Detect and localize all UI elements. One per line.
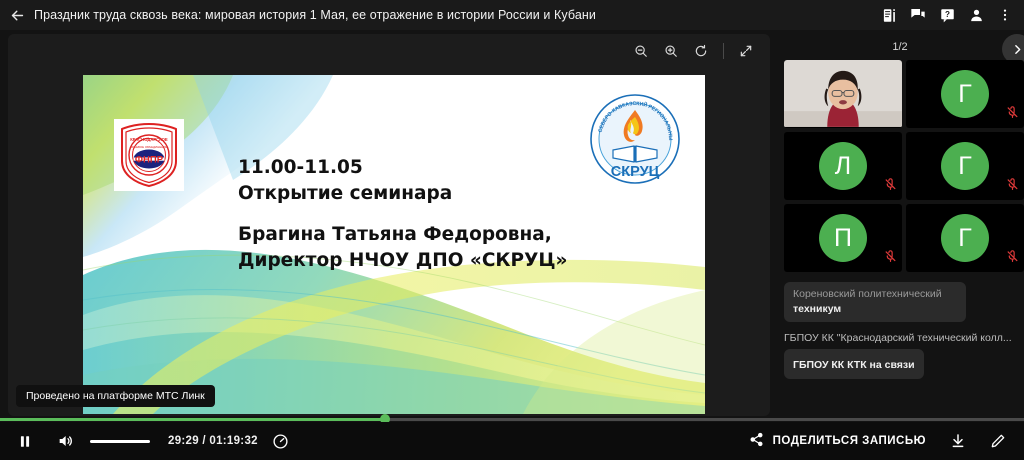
help-icon[interactable]: ?: [934, 0, 960, 30]
participants-pager: 1/2: [776, 34, 1024, 60]
slide-speaker-role: Директор НЧОУ ДПО «СКРУЦ»: [238, 248, 658, 274]
page-title: Праздник труда сквозь века: мировая исто…: [34, 8, 876, 22]
recording-player-page: Праздник труда сквозь века: мировая исто…: [0, 0, 1024, 460]
volume-icon[interactable]: [48, 422, 82, 460]
zoom-out-icon[interactable]: [627, 37, 655, 65]
mic-muted-icon: [1006, 106, 1019, 124]
edit-pencil-icon[interactable]: [978, 422, 1018, 460]
svg-text:?: ?: [945, 10, 950, 19]
avatar: Г: [941, 142, 989, 190]
participant-avatar[interactable]: Г: [906, 132, 1024, 200]
chat-message: Кореновский политехнический техникум: [784, 282, 966, 322]
participant-video[interactable]: [784, 60, 902, 128]
player-controls: 29:29 / 01:19:32 ПОДЕЛИТЬСЯ ЗАПИСЬЮ: [0, 422, 1024, 460]
slide-canvas[interactable]: КРАСНОДАРСКОЕ КРАЕВОЕ ОБЪЕДИНЕНИЕ ФНПР С…: [83, 75, 705, 414]
download-icon[interactable]: [938, 422, 978, 460]
mic-muted-icon: [1006, 178, 1019, 196]
chat-sender: ГБПОУ КК "Краснодарский технический колл…: [784, 332, 1012, 344]
chat-icon[interactable]: [905, 0, 931, 30]
webcam-feed: [784, 60, 902, 127]
share-recording-button[interactable]: ПОДЕЛИТЬСЯ ЗАПИСЬЮ: [737, 432, 938, 450]
avatar: П: [819, 214, 867, 262]
back-arrow-icon[interactable]: [0, 0, 34, 30]
participants-panel: 1/2: [776, 34, 1024, 416]
more-menu-icon[interactable]: [992, 0, 1018, 30]
header-icon-group: ?: [876, 0, 1024, 30]
chat-body: ГБПОУ КК КТК на связи: [793, 359, 915, 371]
mic-muted-icon: [884, 250, 897, 268]
zoom-in-icon[interactable]: [657, 37, 685, 65]
app-header: Праздник труда сквозь века: мировая исто…: [0, 0, 1024, 30]
progress-fill: [0, 418, 385, 421]
mic-muted-icon: [884, 178, 897, 196]
notes-icon[interactable]: [876, 0, 902, 30]
time-display: 29:29 / 01:19:32: [168, 435, 258, 447]
slide-toolbar: [627, 34, 770, 68]
reset-rotate-icon[interactable]: [687, 37, 715, 65]
share-label: ПОДЕЛИТЬСЯ ЗАПИСЬЮ: [773, 435, 926, 447]
participant-avatar[interactable]: Л: [784, 132, 902, 200]
avatar: Г: [941, 70, 989, 118]
participant-tiles: Г Л Г П: [776, 60, 1024, 272]
svg-text:ФНПР: ФНПР: [135, 155, 164, 166]
svg-text:КРАСНОДАРСКОЕ: КРАСНОДАРСКОЕ: [130, 137, 168, 142]
svg-text:КРАЕВОЕ ОБЪЕДИНЕНИЕ: КРАЕВОЕ ОБЪЕДИНЕНИЕ: [131, 145, 168, 149]
participants-icon[interactable]: [963, 0, 989, 30]
chat-sender: Кореновский политехнический: [793, 288, 957, 302]
share-icon: [749, 432, 764, 450]
pager-label: 1/2: [892, 41, 907, 53]
participant-avatar[interactable]: Г: [906, 204, 1024, 272]
fullscreen-icon[interactable]: [732, 37, 760, 65]
pause-icon[interactable]: [8, 422, 42, 460]
playback-speed-icon[interactable]: [264, 422, 298, 460]
slide-time-range: 11.00-11.05: [238, 155, 658, 181]
chat-body: техникум: [793, 302, 957, 316]
slide-text-block: 11.00-11.05 Открытие семинара Брагина Та…: [238, 155, 658, 273]
chat-message: ГБПОУ КК "Краснодарский технический колл…: [784, 332, 1012, 379]
slide-session-title: Открытие семинара: [238, 181, 658, 207]
slide-speaker-name: Брагина Татьяна Федоровна,: [238, 222, 658, 248]
fnpr-logo: КРАСНОДАРСКОЕ КРАЕВОЕ ОБЪЕДИНЕНИЕ ФНПР: [114, 119, 184, 191]
participant-avatar[interactable]: П: [784, 204, 902, 272]
mic-muted-icon: [1006, 250, 1019, 268]
presentation-stage: КРАСНОДАРСКОЕ КРАЕВОЕ ОБЪЕДИНЕНИЕ ФНПР С…: [8, 34, 770, 416]
avatar: Л: [819, 142, 867, 190]
avatar: Г: [941, 214, 989, 262]
volume-slider[interactable]: [90, 440, 150, 443]
chat-messages: Кореновский политехнический техникум ГБП…: [776, 272, 1024, 379]
toolbar-divider: [723, 43, 724, 59]
participant-avatar[interactable]: Г: [906, 60, 1024, 128]
platform-badge: Проведено на платформе МТС Линк: [16, 385, 215, 407]
